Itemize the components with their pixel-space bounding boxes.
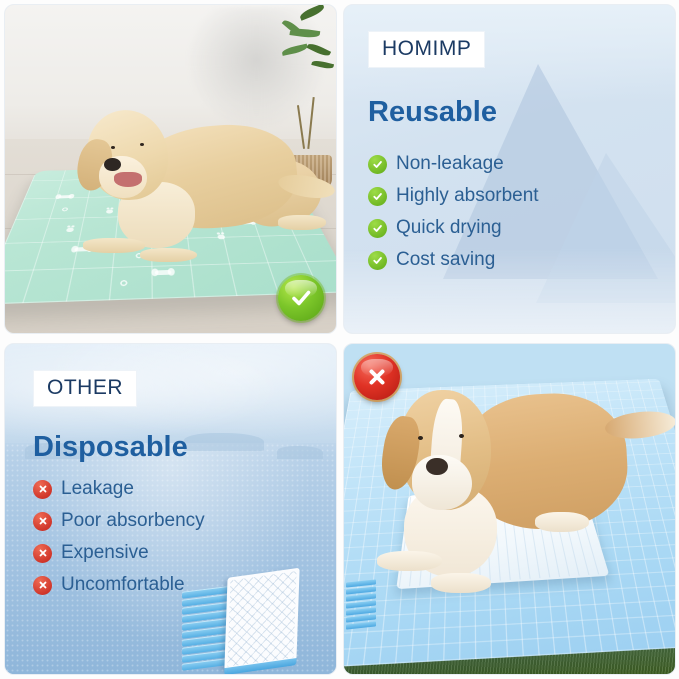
drawback-label: Poor absorbency [61,510,205,532]
brand-label-box: OTHER [33,370,137,407]
brand-label: OTHER [47,376,123,399]
x-circle-icon [33,544,52,563]
check-circle-badge-icon [278,275,324,321]
check-circle-icon [368,219,387,238]
benefit-label: Quick drying [396,217,502,239]
photo-disposable-pad [343,343,676,675]
drawbacks-list: Leakage Poor absorbency Expensive [33,478,336,596]
benefit-label: Cost saving [396,249,495,271]
list-item: Highly absorbent [368,185,675,207]
list-item: Poor absorbency [33,510,336,532]
check-circle-icon [368,155,387,174]
benefit-label: Non-leakage [396,153,504,175]
list-item: Uncomfortable [33,574,336,596]
drawback-label: Uncomfortable [61,574,185,596]
golden-retriever [78,103,316,267]
photo-reusable-mat [4,4,337,334]
list-item: Quick drying [368,217,675,239]
list-item: Cost saving [368,249,675,271]
list-item: Leakage [33,478,336,500]
disposable-pad-stack-small [346,566,376,629]
brand-label-box: HOMIMP [368,31,485,68]
x-circle-badge-icon [354,354,400,400]
benefits-list: Non-leakage Highly absorbent Quick dryin… [368,153,675,271]
x-circle-icon [33,512,52,531]
brand-label: HOMIMP [382,37,471,60]
page-title-reusable: Reusable [368,96,675,129]
list-item: Non-leakage [368,153,675,175]
comparison-collage: HOMIMP Reusable Non-leakage Highly absor… [0,0,679,679]
drawback-label: Leakage [61,478,134,500]
reusable-benefits-panel: HOMIMP Reusable Non-leakage Highly absor… [343,4,676,334]
benefit-label: Highly absorbent [396,185,539,207]
page-title-disposable: Disposable [33,431,336,464]
x-circle-icon [33,576,52,595]
x-circle-icon [33,480,52,499]
disposable-drawbacks-panel: OTHER Disposable Leakage Poor absorbency [4,343,337,675]
check-circle-icon [368,251,387,270]
check-circle-icon [368,187,387,206]
tan-white-dog [377,377,648,595]
drawback-label: Expensive [61,542,149,564]
list-item: Expensive [33,542,336,564]
